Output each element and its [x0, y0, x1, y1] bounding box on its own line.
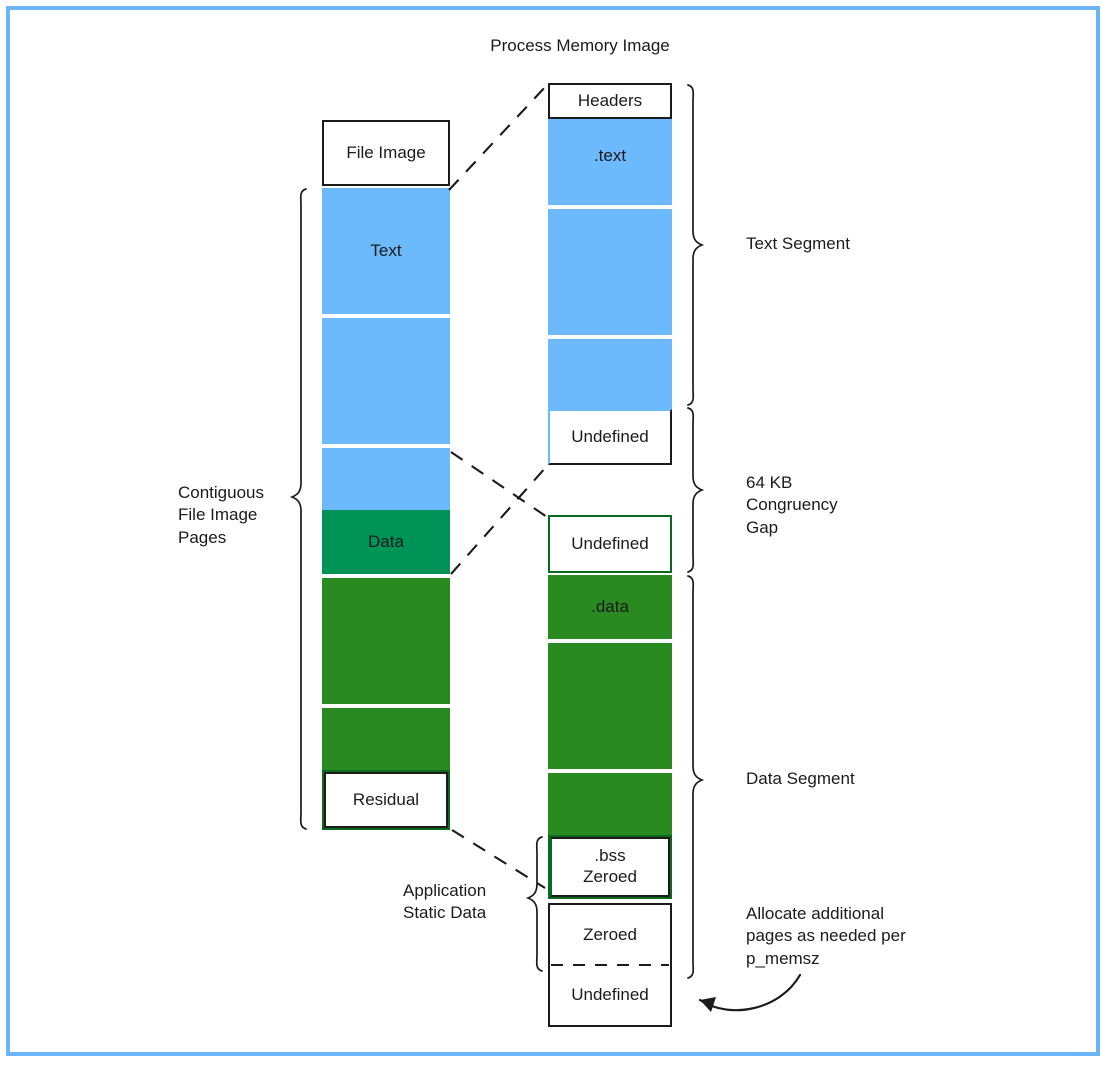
label-application-static-data: Application Static Data: [403, 880, 553, 925]
memory-block-data: .data: [548, 575, 672, 639]
memory-block-bss-outer: .bss Zeroed: [548, 835, 672, 899]
memory-block-data-2: [548, 643, 672, 769]
page-title: Process Memory Image: [455, 36, 705, 56]
file-image-block-data-label: Data: [368, 532, 404, 553]
file-image-block-text-3: [322, 448, 450, 510]
file-image-block-residual-label: Residual: [353, 790, 419, 811]
memory-block-text-2: [548, 209, 672, 335]
file-image-block-data-2: [322, 578, 450, 704]
file-image-block-residual-outer: Residual: [322, 770, 450, 830]
file-image-block-data-3: [322, 708, 450, 770]
memory-block-text-label: .text: [594, 146, 626, 167]
file-image-block-residual: Residual: [324, 772, 448, 828]
memory-block-data-3: [548, 773, 672, 835]
label-text-segment: Text Segment: [746, 233, 946, 255]
memory-block-bss: .bss Zeroed: [550, 837, 670, 897]
label-allocate-note: Allocate additional pages as needed per …: [746, 903, 976, 970]
memory-block-undefined-data-label: Undefined: [571, 534, 649, 555]
memory-block-undefined-tail-label: Undefined: [571, 985, 649, 1006]
memory-block-undefined-data: Undefined: [548, 515, 672, 573]
file-image-block-text-2: [322, 318, 450, 444]
memory-block-bss-label: .bss Zeroed: [583, 846, 637, 887]
memory-block-headers-label: Headers: [578, 91, 642, 112]
memory-block-text-3: [548, 339, 672, 409]
memory-block-zeroed-label: Zeroed: [583, 925, 637, 946]
memory-block-undefined-tail: Undefined: [548, 965, 672, 1027]
file-image-block-text-label: Text: [370, 241, 401, 262]
file-image-header-label: File Image: [346, 143, 425, 164]
memory-block-undefined-text: Undefined: [548, 409, 672, 465]
memory-block-zeroed: Zeroed: [548, 903, 672, 965]
file-image-block-text: Text: [322, 188, 450, 314]
diagram-canvas: Process Memory Image File Image Text Dat…: [0, 0, 1110, 1066]
memory-block-headers: Headers: [548, 83, 672, 119]
file-image-block-data: Data: [322, 510, 450, 574]
label-congruency-gap: 64 KB Congruency Gap: [746, 472, 906, 539]
memory-block-text: .text: [548, 119, 672, 205]
label-data-segment: Data Segment: [746, 768, 946, 790]
memory-block-undefined-text-label: Undefined: [571, 427, 649, 448]
file-image-header-box: File Image: [322, 120, 450, 186]
label-contiguous-file-image-pages: Contiguous File Image Pages: [178, 482, 318, 549]
memory-block-data-label: .data: [591, 597, 629, 618]
